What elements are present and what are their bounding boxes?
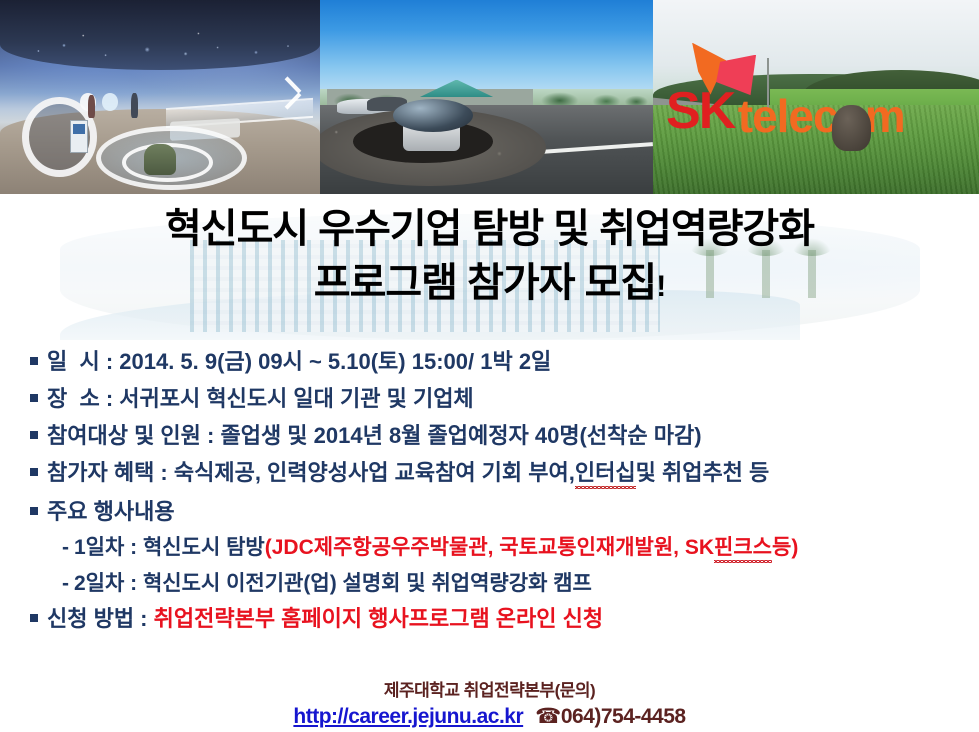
program-overview-label: 주요 행사내용 — [47, 494, 175, 526]
footer-telephone: ☎064)754-4458 — [535, 704, 685, 729]
list-item-apply-method: 신청 방법 : 취업전략본부 홈페이지 행사프로그램 온라인 신청 — [0, 601, 979, 633]
sk-brand-text-sk: SK — [666, 85, 734, 137]
planetarium-exhibit — [144, 144, 176, 175]
bullet-square-icon — [30, 614, 38, 622]
bullet-square-icon — [30, 507, 38, 515]
planetarium-star-projection — [0, 23, 320, 93]
planetarium-visitor-a — [88, 95, 95, 118]
list-item-program-overview: 주요 행사내용 — [0, 494, 979, 526]
poster-root: SK telecom 혁신도시 우수기업 탐방 및 취업역량강화 프로그램 참가… — [0, 0, 979, 732]
list-item-day1: - 1일차 : 혁신도시 탐방(JDC제주항공우주박물관, 국토교통인재개발원,… — [0, 531, 979, 563]
photo-planetarium-interior — [0, 0, 320, 194]
planetarium-visitor-b — [131, 93, 138, 118]
poster-title: 혁신도시 우수기업 탐방 및 취업역량강화 프로그램 참가자 모집! — [0, 194, 979, 310]
day2-dash: - — [62, 572, 69, 596]
photo-sk-telecom-sign: SK telecom — [653, 0, 979, 194]
apply-label: 신청 방법 : — [47, 601, 154, 633]
day1-text-red-close: 등) — [772, 531, 798, 561]
location-value: 서귀포시 혁신도시 일대 기관 및 기업체 — [119, 381, 473, 413]
sk-brand-text-telecom: telecom — [738, 93, 905, 139]
day1-text-red-misspelled: 핀크스 — [714, 531, 772, 563]
photo-globe-monument — [320, 0, 653, 194]
planetarium-kiosk — [70, 120, 88, 153]
bullet-square-icon — [30, 468, 38, 476]
benefits-value-misspelled: 인터십 — [575, 455, 636, 489]
chevron-right-icon — [281, 74, 307, 114]
datetime-value: 2014. 5. 9(금) 09시 ~ 5.10(토) 15:00/ 1박 2일 — [119, 344, 551, 376]
datetime-label: 일 시 : — [47, 344, 119, 376]
sk-dolhareubang-rock — [832, 105, 871, 152]
eligibility-label: 참여대상 및 인원 : — [47, 418, 220, 450]
apply-value: 취업전략본부 홈페이지 행사프로그램 온라인 신청 — [154, 601, 604, 633]
location-label: 장 소 : — [47, 381, 119, 413]
benefits-value-part-a: 숙식제공, 인력양성사업 교육참여 기회 부여, — [174, 455, 575, 487]
bullet-square-icon — [30, 394, 38, 402]
planetarium-wall-panel-b — [102, 93, 118, 110]
footer: 제주대학교 취업전략본부(문의) http://career.jejunu.ac… — [0, 676, 979, 729]
day2-text: 2일차 : 혁신도시 이전기관(업) 설명회 및 취업역량강화 캠프 — [74, 567, 592, 597]
photo-strip: SK telecom — [0, 0, 979, 194]
list-item-datetime: 일 시 : 2014. 5. 9(금) 09시 ~ 5.10(토) 15:00/… — [0, 344, 979, 376]
title-exclamation: ! — [656, 270, 665, 303]
title-line-2-wrap: 프로그램 참가자 모집! — [0, 256, 979, 310]
list-item-eligibility: 참여대상 및 인원 : 졸업생 및 2014년 8월 졸업예정자 40명(선착순… — [0, 418, 979, 450]
eligibility-value: 졸업생 및 2014년 8월 졸업예정자 40명(선착순 마감) — [220, 418, 701, 450]
list-item-day2: - 2일차 : 혁신도시 이전기관(업) 설명회 및 취업역량강화 캠프 — [0, 567, 979, 597]
footer-contact-line: http://career.jejunu.ac.kr ☎064)754-4458 — [0, 704, 979, 729]
day1-text-navy: 1일차 : 혁신도시 탐방 — [74, 531, 265, 561]
career-website-link[interactable]: http://career.jejunu.ac.kr — [293, 705, 523, 729]
benefits-label: 참가자 혜택 : — [47, 455, 174, 487]
title-line-2: 프로그램 참가자 모집 — [314, 261, 656, 305]
list-item-location: 장 소 : 서귀포시 혁신도시 일대 기관 및 기업체 — [0, 381, 979, 413]
detail-list: 일 시 : 2014. 5. 9(금) 09시 ~ 5.10(토) 15:00/… — [0, 344, 979, 638]
title-block: 혁신도시 우수기업 탐방 및 취업역량강화 프로그램 참가자 모집! — [0, 194, 979, 340]
footer-organization: 제주대학교 취업전략본부(문의) — [0, 676, 979, 701]
list-item-benefits: 참가자 혜택 : 숙식제공, 인력양성사업 교육참여 기회 부여, 인터십 및 … — [0, 455, 979, 489]
bullet-square-icon — [30, 431, 38, 439]
benefits-value-part-b: 및 취업추천 등 — [636, 455, 770, 487]
day1-text-red-open: (JDC제주항공우주박물관, 국토교통인재개발원, SK — [265, 531, 714, 561]
bullet-square-icon — [30, 357, 38, 365]
monument-globe-sculpture — [393, 99, 473, 132]
title-line-1: 혁신도시 우수기업 탐방 및 취업역량강화 — [0, 202, 979, 256]
day1-dash: - — [62, 536, 69, 560]
